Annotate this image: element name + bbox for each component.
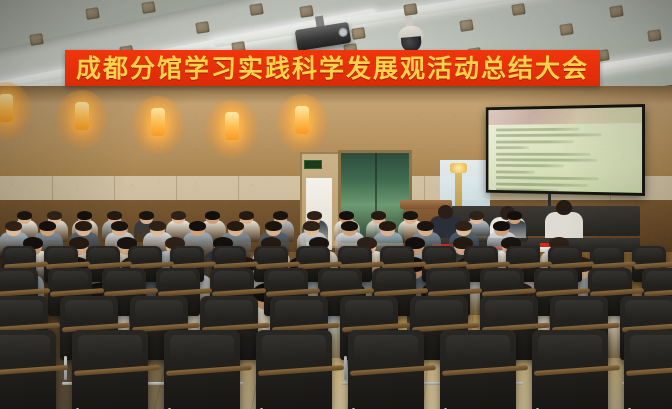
recessed-light-icon bbox=[141, 1, 156, 14]
recessed-light-icon bbox=[195, 21, 210, 34]
recessed-light-icon bbox=[351, 27, 366, 40]
recessed-light-icon bbox=[249, 3, 264, 16]
wall-sconce-icon bbox=[72, 100, 92, 134]
recessed-light-icon bbox=[85, 7, 100, 20]
event-banner: 成都分馆学习实践科学发展观活动总结大会 bbox=[65, 50, 600, 86]
wall-sconce-icon bbox=[148, 106, 168, 140]
recessed-light-icon bbox=[29, 33, 44, 46]
recessed-light-icon bbox=[403, 3, 418, 16]
recessed-light-icon bbox=[299, 5, 314, 18]
wall-sconce-icon bbox=[222, 110, 242, 144]
recessed-light-icon bbox=[609, 5, 624, 18]
recessed-light-icon bbox=[559, 23, 574, 36]
exit-sign bbox=[304, 160, 322, 169]
recessed-light-icon bbox=[459, 19, 474, 32]
banner-headline: 成都分馆学习实践科学发展观活动总结大会 bbox=[76, 56, 589, 81]
wall-sconce-icon bbox=[292, 104, 312, 138]
chair-leg bbox=[344, 356, 347, 380]
wall-sconce-icon bbox=[0, 92, 16, 126]
recessed-light-icon bbox=[647, 29, 662, 42]
recessed-light-icon bbox=[511, 3, 526, 16]
photograph: presentation slide text (illegible at so… bbox=[0, 0, 672, 409]
projection-screen bbox=[486, 104, 645, 196]
